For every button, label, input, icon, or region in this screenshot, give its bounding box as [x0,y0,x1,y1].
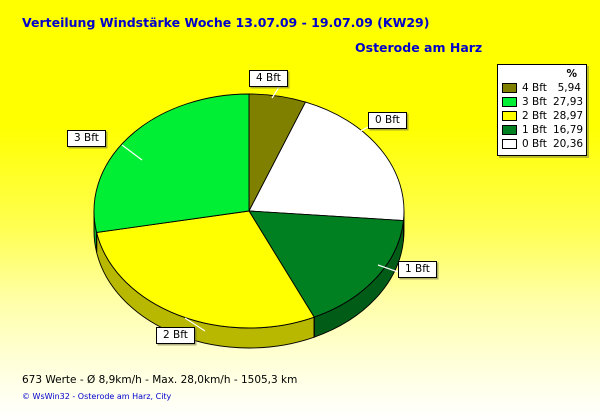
legend-row: 1 Bft16,79 [502,123,582,137]
legend-swatch-icon [502,125,517,135]
pie-slice-callout: 3 Bft [67,130,106,147]
legend-label: 0 Bft [522,137,553,151]
legend-label: 4 Bft [522,81,553,95]
legend-label: 3 Bft [522,95,553,109]
legend-value: 5,94 [553,81,582,95]
chart-page: Verteilung Windstärke Woche 13.07.09 - 1… [0,0,600,420]
footer-stats: 673 Werte - Ø 8,9km/h - Max. 28,0km/h - … [22,374,297,386]
legend-value: 27,93 [553,95,584,109]
pie-chart [0,0,600,420]
legend-swatch-icon [502,97,517,107]
pie-slice-callout: 2 Bft [156,327,195,344]
legend-rows: 4 Bft5,943 Bft27,932 Bft28,971 Bft16,790… [502,81,582,151]
pie-slice-callout: 4 Bft [249,70,288,87]
legend-header: % [502,68,582,81]
legend-label: 2 Bft [522,109,553,123]
legend-box: % 4 Bft5,943 Bft27,932 Bft28,971 Bft16,7… [497,64,587,156]
legend-swatch-icon [502,83,517,93]
legend-value: 28,97 [553,109,584,123]
legend-label: 1 Bft [522,123,553,137]
pie-slice-3-bft[interactable] [94,94,249,232]
legend-swatch-icon [502,111,517,121]
legend-swatch-icon [502,139,517,149]
legend-value: 16,79 [553,123,584,137]
legend-row: 3 Bft27,93 [502,95,582,109]
pie-top-faces [94,94,404,328]
pie-slice-callout: 1 Bft [398,261,437,278]
legend-value: 20,36 [553,137,584,151]
legend-row: 4 Bft5,94 [502,81,582,95]
pie-slice-callout: 0 Bft [368,112,407,129]
footer-credit: © WsWin32 - Osterode am Harz, City [22,392,171,401]
legend-row: 2 Bft28,97 [502,109,582,123]
legend-row: 0 Bft20,36 [502,137,582,151]
